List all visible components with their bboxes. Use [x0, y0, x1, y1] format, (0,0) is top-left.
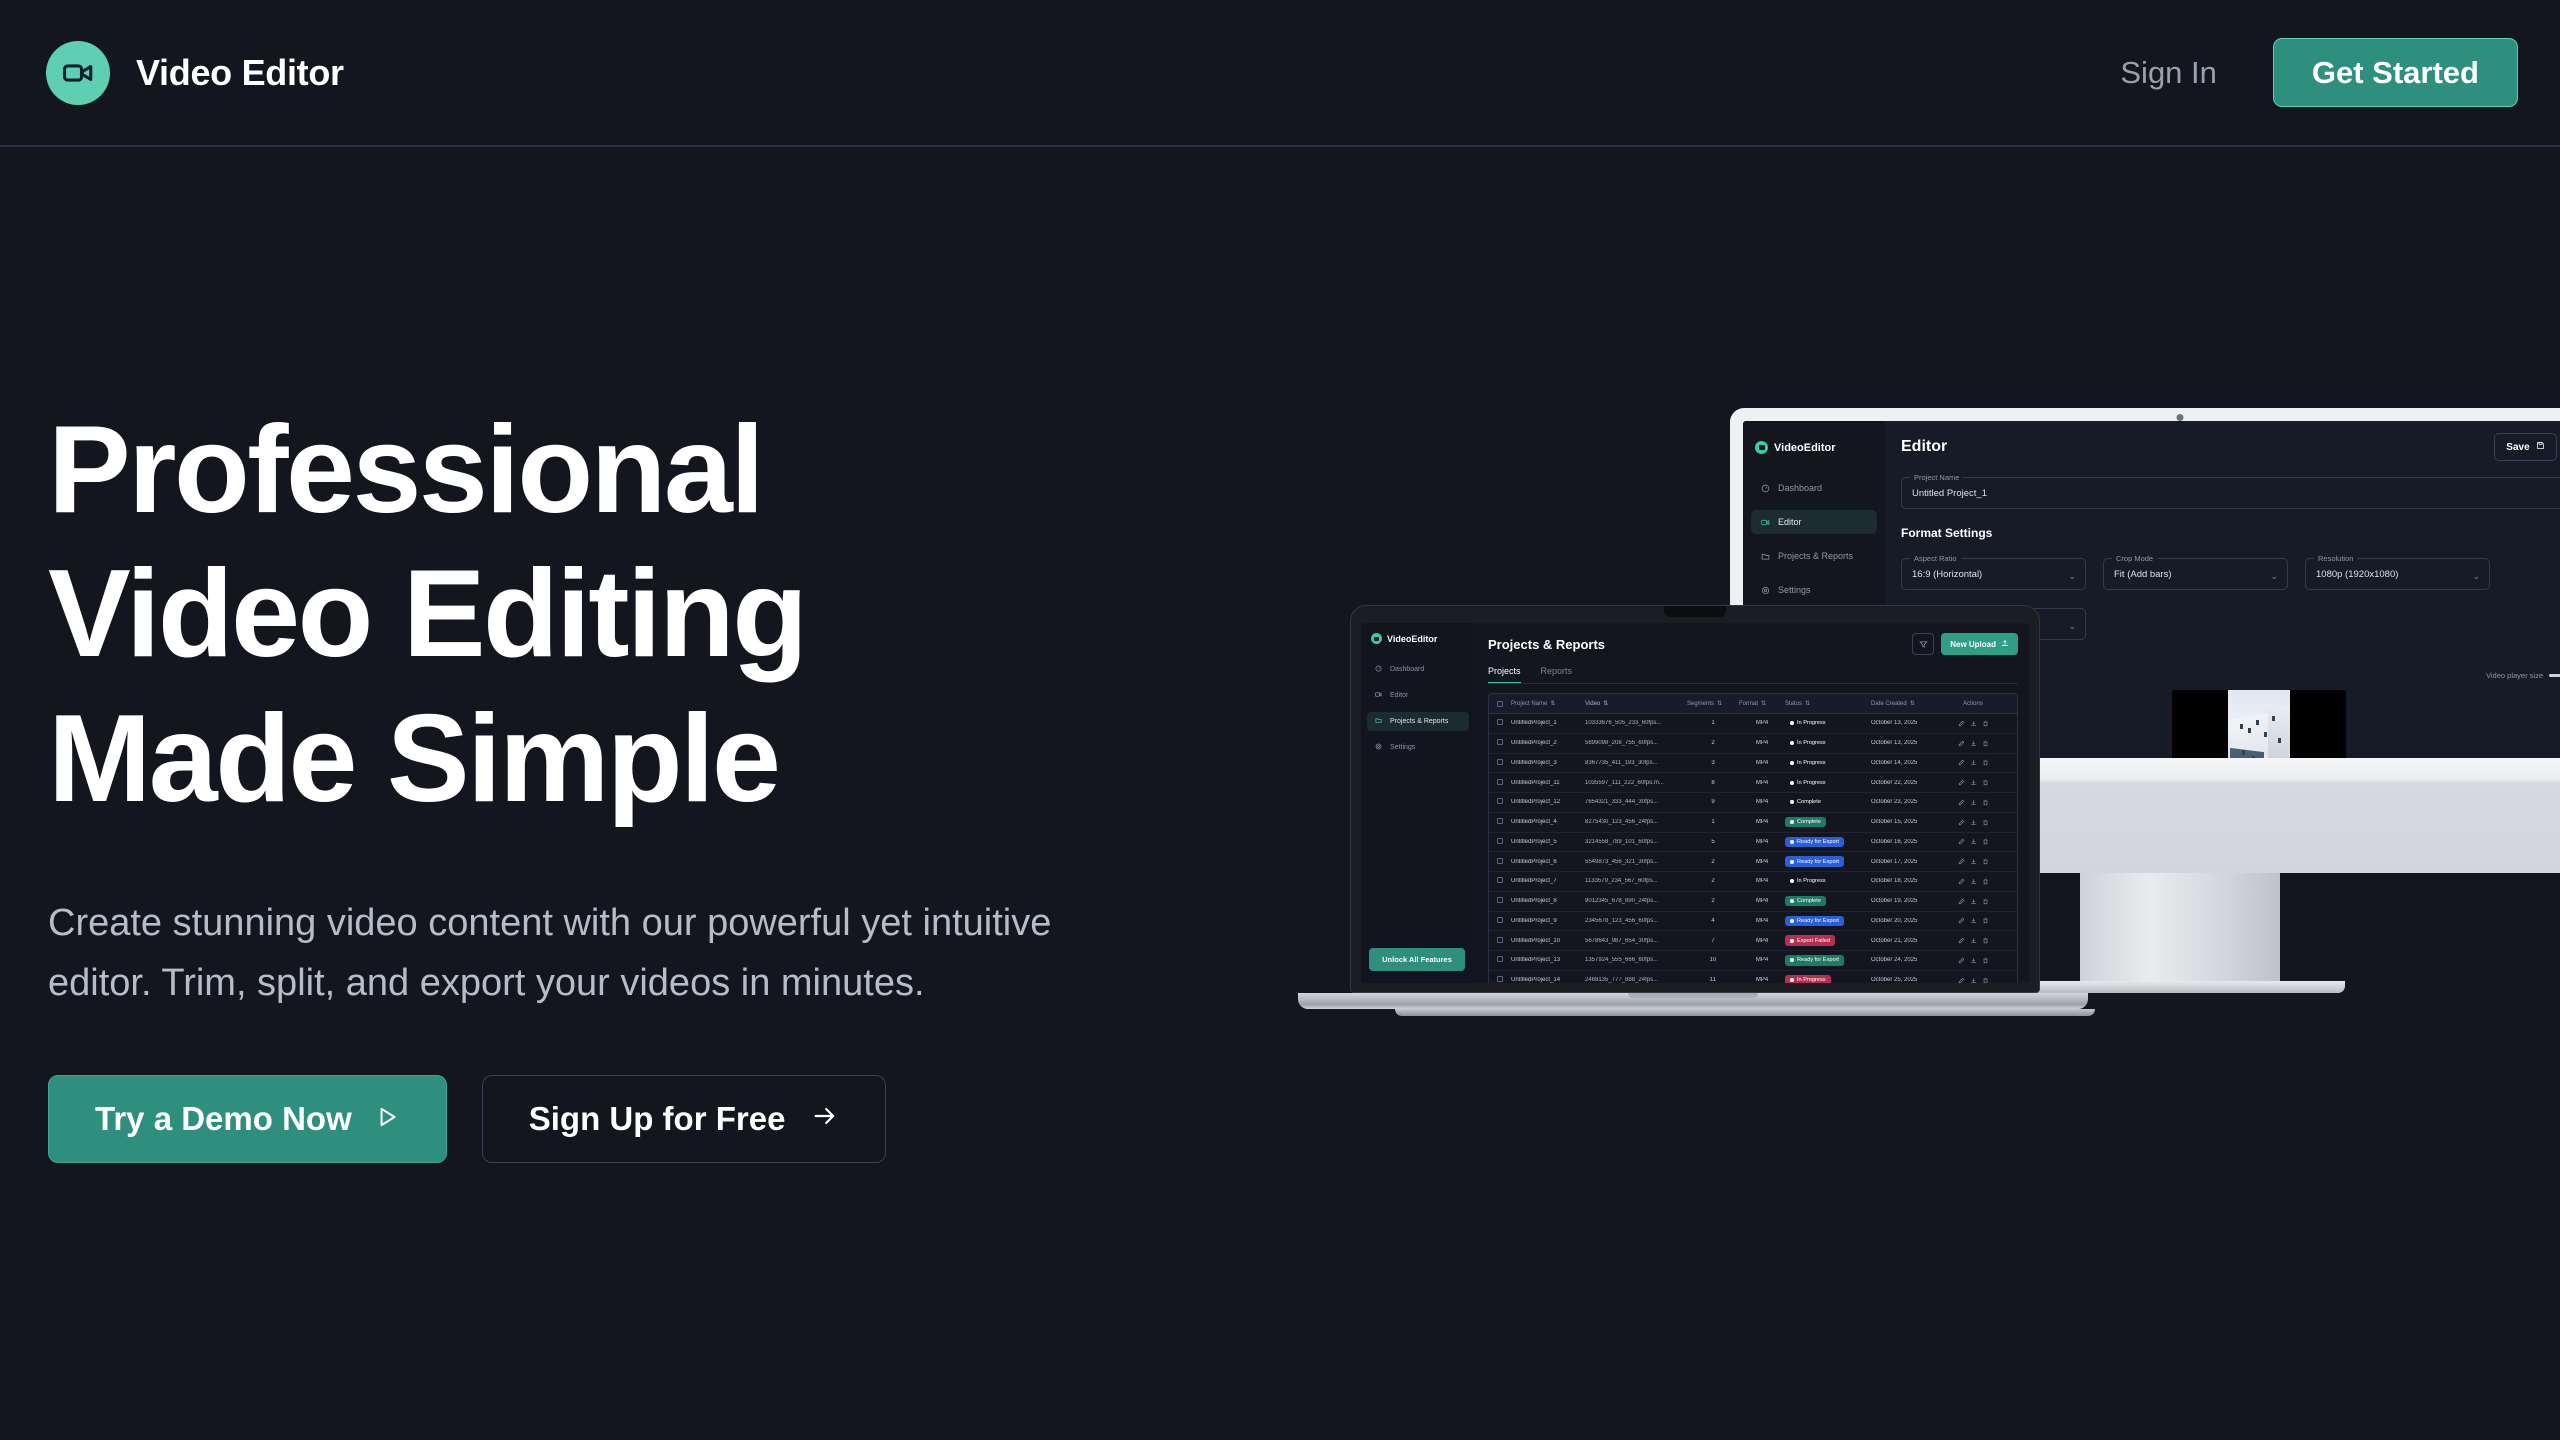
cell-project-name: UntitledProject_6 — [1511, 859, 1585, 865]
video-camera-icon — [46, 41, 110, 105]
table-row[interactable]: UntitledProject_111035597_111_222_60fps.… — [1489, 773, 2017, 793]
status-badge: In Progress — [1785, 876, 1871, 886]
cell-video: 10333676_505_233_60fps... — [1585, 720, 1687, 726]
hero-title-line-2: Video Editing — [48, 542, 1198, 686]
sidebar-item-dashboard[interactable]: Dashboard — [1751, 476, 1877, 500]
cell-project-name: UntitledProject_7 — [1511, 878, 1585, 884]
projects-app-screen: VideoEditor Dashboard Editor — [1361, 623, 2029, 983]
cell-project-name: UntitledProject_12 — [1511, 799, 1585, 805]
cell-format: MP4 — [1739, 898, 1785, 904]
cell-segments: 4 — [1687, 918, 1739, 924]
editor-header: Editor Save Exp — [1901, 433, 2560, 461]
hero-subtitle: Create stunning video content with our p… — [48, 894, 1143, 1013]
status-badge: Ready for Export — [1785, 916, 1871, 926]
chevron-down-icon: ⌄ — [2270, 571, 2278, 582]
column-project-name[interactable]: Project Name⇅ — [1511, 700, 1585, 707]
cell-segments: 5 — [1687, 839, 1739, 845]
trash-icon[interactable] — [1982, 740, 1989, 747]
projects-page-title: Projects & Reports — [1488, 637, 1605, 652]
status-badge: In Progress — [1785, 777, 1871, 787]
row-checkbox[interactable] — [1489, 798, 1511, 806]
player-size-control[interactable]: Video player size — [2486, 671, 2560, 680]
status-badge: In Progress — [1785, 758, 1871, 768]
cell-segments: 7 — [1687, 938, 1739, 944]
cell-date-created: October 25, 2025 — [1871, 977, 1945, 983]
sidebar-label: Projects & Reports — [1390, 718, 1448, 725]
project-name-field[interactable]: Project Name Untitled Project_1 — [1901, 477, 2560, 509]
sidebar-label: Settings — [1778, 585, 1811, 595]
cell-format: MP4 — [1739, 839, 1785, 845]
page-title: Professional Video Editing Made Simple — [48, 398, 1198, 831]
download-icon[interactable] — [1970, 917, 1977, 924]
edit-icon[interactable] — [1958, 720, 1965, 727]
status-badge: Ready for Export — [1785, 955, 1871, 965]
player-size-label: Video player size — [2486, 671, 2543, 680]
cell-project-name: UntitledProject_2 — [1511, 740, 1585, 746]
edit-icon[interactable] — [1958, 898, 1965, 905]
projects-header: Projects & Reports New Upload — [1488, 633, 2018, 655]
new-upload-label: New Upload — [1950, 640, 1996, 649]
cell-segments: 3 — [1687, 760, 1739, 766]
gauge-icon — [1761, 484, 1770, 493]
cell-date-created: October 15, 2025 — [1871, 819, 1945, 825]
table-row[interactable]: UntitledProject_127654321_333_444_30fps.… — [1489, 793, 2017, 813]
sort-icon: ⇅ — [1910, 700, 1915, 707]
save-button[interactable]: Save — [2494, 433, 2556, 461]
sidebar-item-projects-reports[interactable]: Projects & Reports — [1367, 712, 1469, 731]
laptop-base — [1298, 993, 2088, 1009]
table-row[interactable]: UntitledProject_48275430_123_456_24fps..… — [1489, 813, 2017, 833]
table-row[interactable]: UntitledProject_25899098_208_755_60fps..… — [1489, 734, 2017, 754]
cell-video: 7654321_333_444_30fps... — [1585, 799, 1687, 805]
cell-video: 5678643_987_654_30fps... — [1585, 938, 1687, 944]
video-icon — [1375, 691, 1384, 700]
projects-tabs: Projects Reports — [1488, 666, 2018, 684]
cell-video: 1133579_234_567_60fps... — [1585, 878, 1687, 884]
sign-up-button[interactable]: Sign Up for Free — [482, 1075, 887, 1163]
table-row[interactable]: UntitledProject_89012345_678_890_24fps..… — [1489, 892, 2017, 912]
cell-segments: 10 — [1687, 957, 1739, 963]
cell-project-name: UntitledProject_9 — [1511, 918, 1585, 924]
cell-date-created: October 14, 2025 — [1871, 760, 1945, 766]
editor-nav: Dashboard Editor Projects & Reports — [1743, 476, 1885, 602]
trash-icon[interactable] — [1982, 898, 1989, 905]
resolution-label: Resolution — [2314, 554, 2357, 563]
row-checkbox[interactable] — [1489, 976, 1511, 983]
row-checkbox[interactable] — [1489, 937, 1511, 945]
trash-icon[interactable] — [1982, 957, 1989, 964]
cell-segments: 2 — [1687, 859, 1739, 865]
cell-video: 5899098_208_755_60fps... — [1585, 740, 1687, 746]
video-camera-icon — [1371, 633, 1382, 644]
cell-actions — [1945, 917, 2001, 924]
trash-icon[interactable] — [1982, 779, 1989, 786]
cell-format: MP4 — [1739, 740, 1785, 746]
cell-actions — [1945, 878, 2001, 885]
folder-icon — [1761, 552, 1770, 561]
download-icon[interactable] — [1970, 937, 1977, 944]
get-started-button[interactable]: Get Started — [2273, 38, 2518, 107]
brand[interactable]: Video Editor — [46, 41, 344, 105]
row-checkbox[interactable] — [1489, 858, 1511, 866]
cell-actions — [1945, 779, 2001, 786]
cell-format: MP4 — [1739, 878, 1785, 884]
trash-icon[interactable] — [1982, 858, 1989, 865]
sort-icon: ⇅ — [1550, 700, 1555, 707]
crop-mode-value: Fit (Add bars) — [2114, 569, 2277, 580]
table-body: UntitledProject_110333676_505_233_60fps.… — [1489, 714, 2017, 983]
cell-project-name: UntitledProject_10 — [1511, 938, 1585, 944]
cell-segments: 2 — [1687, 740, 1739, 746]
format-settings-row-1: Aspect Ratio 16:9 (Horizontal) ⌄ Crop Mo… — [1901, 542, 2560, 590]
table-row[interactable]: UntitledProject_92345678_123_456_60fps..… — [1489, 912, 2017, 932]
row-checkbox[interactable] — [1489, 779, 1511, 787]
row-checkbox[interactable] — [1489, 956, 1511, 964]
sign-up-label: Sign Up for Free — [529, 1100, 786, 1138]
cell-video: 8367735_411_193_30fps... — [1585, 760, 1687, 766]
column-date-created[interactable]: Date Created⇅ — [1871, 700, 1945, 707]
cell-date-created: October 21, 2025 — [1871, 938, 1945, 944]
edit-icon[interactable] — [1958, 838, 1965, 845]
editor-brand: VideoEditor — [1743, 435, 1885, 454]
cell-segments: 2 — [1687, 898, 1739, 904]
table-row[interactable]: UntitledProject_105678643_987_654_30fps.… — [1489, 931, 2017, 951]
floppy-disk-icon — [2536, 441, 2545, 453]
crop-mode-select[interactable]: Crop Mode Fit (Add bars) ⌄ — [2103, 558, 2288, 590]
upload-icon — [2001, 639, 2009, 649]
laptop-foot — [1395, 1009, 2095, 1016]
row-checkbox[interactable] — [1489, 917, 1511, 925]
cell-format: MP4 — [1739, 938, 1785, 944]
sidebar-item-editor[interactable]: Editor — [1367, 686, 1469, 705]
select-all-checkbox[interactable] — [1489, 700, 1511, 707]
cell-actions — [1945, 720, 2001, 727]
table-row[interactable]: UntitledProject_53214558_789_101_60fps..… — [1489, 833, 2017, 853]
download-icon[interactable] — [1970, 759, 1977, 766]
gear-icon — [1761, 586, 1770, 595]
edit-icon[interactable] — [1958, 740, 1965, 747]
video-preview-player[interactable] — [2172, 690, 2346, 758]
status-badge: Ready for Export — [1785, 856, 1871, 866]
cell-format: MP4 — [1739, 720, 1785, 726]
download-icon[interactable] — [1970, 858, 1977, 865]
edit-icon[interactable] — [1958, 977, 1965, 983]
cell-format: MP4 — [1739, 918, 1785, 924]
cell-project-name: UntitledProject_1 — [1511, 720, 1585, 726]
tab-reports[interactable]: Reports — [1541, 666, 1573, 683]
sidebar-item-projects-reports[interactable]: Projects & Reports — [1751, 544, 1877, 568]
sidebar-label: Dashboard — [1778, 483, 1822, 493]
download-icon[interactable] — [1970, 878, 1977, 885]
cell-segments: 8 — [1687, 780, 1739, 786]
cell-actions — [1945, 858, 2001, 865]
player-size-slider[interactable] — [2549, 674, 2560, 677]
sidebar-label: Settings — [1390, 744, 1415, 751]
arrow-right-icon — [811, 1100, 839, 1138]
gear-icon — [1375, 743, 1384, 752]
cell-segments: 1 — [1687, 819, 1739, 825]
sidebar-item-editor[interactable]: Editor — [1751, 510, 1877, 534]
trash-icon[interactable] — [1982, 819, 1989, 826]
try-demo-label: Try a Demo Now — [95, 1100, 352, 1138]
row-checkbox[interactable] — [1489, 877, 1511, 885]
new-upload-button[interactable]: New Upload — [1941, 633, 2018, 655]
projects-main: Projects & Reports New Upload — [1475, 623, 2029, 983]
cell-video: 3214558_789_101_60fps... — [1585, 839, 1687, 845]
sort-icon: ⇅ — [1805, 700, 1810, 707]
cell-date-created: October 24, 2025 — [1871, 957, 1945, 963]
cell-actions — [1945, 898, 2001, 905]
cell-video: 5549873_456_321_30fps... — [1585, 859, 1687, 865]
edit-icon[interactable] — [1958, 779, 1965, 786]
sidebar-label: Projects & Reports — [1778, 551, 1853, 561]
download-icon[interactable] — [1970, 819, 1977, 826]
projects-table: Project Name⇅ Video⇅ Segments⇅ Format⇅ S… — [1488, 693, 2018, 983]
cell-date-created: October 22, 2025 — [1871, 780, 1945, 786]
cell-segments: 11 — [1687, 977, 1739, 983]
status-badge: Complete — [1785, 817, 1871, 827]
project-name-label: Project Name — [1910, 473, 1963, 482]
projects-sidebar: VideoEditor Dashboard Editor — [1361, 623, 1475, 983]
cell-segments: 9 — [1687, 799, 1739, 805]
cell-format: MP4 — [1739, 760, 1785, 766]
sort-icon: ⇅ — [1761, 700, 1766, 707]
cell-actions — [1945, 957, 2001, 964]
hero-cta-group: Try a Demo Now Sign Up for Free — [48, 1075, 1198, 1163]
cell-video: 2345678_123_456_60fps... — [1585, 918, 1687, 924]
sidebar-label: Dashboard — [1390, 666, 1424, 673]
download-icon[interactable] — [1970, 799, 1977, 806]
table-row[interactable]: UntitledProject_142468135_777_888_24fps.… — [1489, 971, 2017, 983]
status-badge: Export Failed — [1785, 935, 1871, 945]
editor-header-actions: Save Exp — [2494, 433, 2560, 461]
filter-icon[interactable] — [1912, 633, 1934, 655]
status-badge: Ready for Export — [1785, 837, 1871, 847]
row-checkbox[interactable] — [1489, 759, 1511, 767]
cell-video: 1357924_555_666_60fps... — [1585, 957, 1687, 963]
unlock-all-features-button[interactable]: Unlock All Features — [1369, 948, 1465, 971]
hero-title-line-1: Professional — [48, 398, 1198, 542]
projects-nav: Dashboard Editor Projects & Reports — [1361, 660, 1475, 757]
cell-video: 2468135_777_888_24fps... — [1585, 977, 1687, 983]
cell-project-name: UntitledProject_11 — [1511, 780, 1585, 786]
edit-icon[interactable] — [1958, 937, 1965, 944]
cell-video: 9012345_678_890_24fps... — [1585, 898, 1687, 904]
cell-format: MP4 — [1739, 819, 1785, 825]
table-row[interactable]: UntitledProject_131357924_555_666_60fps.… — [1489, 951, 2017, 971]
hero-section: Professional Video Editing Made Simple C… — [48, 398, 1198, 1163]
download-icon[interactable] — [1970, 720, 1977, 727]
download-icon[interactable] — [1970, 977, 1977, 983]
table-row[interactable]: UntitledProject_38367735_411_193_30fps..… — [1489, 754, 2017, 774]
cell-project-name: UntitledProject_3 — [1511, 760, 1585, 766]
table-row[interactable]: UntitledProject_65549873_456_321_30fps..… — [1489, 852, 2017, 872]
trash-icon[interactable] — [1982, 799, 1989, 806]
crop-mode-label: Crop Mode — [2112, 554, 2157, 563]
resolution-value: 1080p (1920x1080) — [2316, 569, 2479, 580]
download-icon[interactable] — [1970, 957, 1977, 964]
cell-format: MP4 — [1739, 977, 1785, 983]
cell-actions — [1945, 819, 2001, 826]
video-icon — [1761, 518, 1770, 527]
trash-icon[interactable] — [1982, 759, 1989, 766]
video-camera-icon — [1755, 441, 1768, 454]
cell-format: MP4 — [1739, 859, 1785, 865]
status-badge: Complete — [1785, 797, 1871, 807]
resolution-select[interactable]: Resolution 1080p (1920x1080) ⌄ — [2305, 558, 2490, 590]
status-badge: In Progress — [1785, 975, 1871, 983]
table-row[interactable]: UntitledProject_71133579_234_567_60fps..… — [1489, 872, 2017, 892]
cell-actions — [1945, 838, 2001, 845]
format-settings-title: Format Settings — [1901, 526, 2560, 540]
sort-icon: ⇅ — [1603, 700, 1608, 707]
site-header: Video Editor Sign In Get Started — [0, 0, 2560, 147]
column-video[interactable]: Video⇅ — [1585, 700, 1687, 707]
chevron-down-icon: ⌄ — [2472, 571, 2480, 582]
cell-project-name: UntitledProject_13 — [1511, 957, 1585, 963]
trash-icon[interactable] — [1982, 977, 1989, 983]
preview-thumbnail — [2228, 690, 2290, 758]
cell-project-name: UntitledProject_8 — [1511, 898, 1585, 904]
sign-in-link[interactable]: Sign In — [2120, 55, 2217, 91]
try-demo-button[interactable]: Try a Demo Now — [48, 1075, 447, 1163]
sidebar-label: Editor — [1778, 517, 1802, 527]
trash-icon[interactable] — [1982, 937, 1989, 944]
aspect-ratio-value: 16:9 (Horizontal) — [1912, 569, 2075, 580]
cell-actions — [1945, 937, 2001, 944]
sidebar-item-dashboard[interactable]: Dashboard — [1367, 660, 1469, 679]
edit-icon[interactable] — [1958, 957, 1965, 964]
camera-icon — [2177, 414, 2184, 421]
tab-projects[interactable]: Projects — [1488, 666, 1521, 683]
cell-date-created: October 13, 2025 — [1871, 720, 1945, 726]
cell-format: MP4 — [1739, 799, 1785, 805]
editor-page-title: Editor — [1901, 438, 1947, 456]
cell-video: 8275430_123_456_24fps... — [1585, 819, 1687, 825]
sidebar-label: Editor — [1390, 692, 1408, 699]
download-icon[interactable] — [1970, 779, 1977, 786]
edit-icon[interactable] — [1958, 799, 1965, 806]
cell-video: 1035597_111_222_60fps.m... — [1585, 780, 1687, 786]
cell-segments: 1 — [1687, 720, 1739, 726]
download-icon[interactable] — [1970, 740, 1977, 747]
status-badge: In Progress — [1785, 718, 1871, 728]
download-icon[interactable] — [1970, 898, 1977, 905]
column-status[interactable]: Status⇅ — [1785, 700, 1871, 707]
row-checkbox[interactable] — [1489, 719, 1511, 727]
row-checkbox[interactable] — [1489, 739, 1511, 747]
product-mockups: VideoEditor Dashboard Editor — [1350, 390, 2560, 1190]
projects-brand-label: VideoEditor — [1387, 634, 1437, 644]
chevron-down-icon: ⌄ — [2068, 571, 2076, 582]
cell-format: MP4 — [1739, 780, 1785, 786]
brand-name: Video Editor — [136, 52, 344, 94]
cell-date-created: October 13, 2025 — [1871, 740, 1945, 746]
camera-icon — [1664, 606, 1726, 617]
edit-icon[interactable] — [1958, 878, 1965, 885]
folder-icon — [1375, 717, 1384, 726]
hero-title-line-3: Made Simple — [48, 687, 1198, 831]
cell-actions — [1945, 740, 2001, 747]
cell-date-created: October 17, 2025 — [1871, 859, 1945, 865]
laptop-mockup: VideoEditor Dashboard Editor — [1350, 605, 2140, 1016]
trash-icon[interactable] — [1982, 878, 1989, 885]
sidebar-item-settings[interactable]: Settings — [1751, 578, 1877, 602]
trash-icon[interactable] — [1982, 917, 1989, 924]
project-name-value: Untitled Project_1 — [1912, 488, 2560, 499]
trash-icon[interactable] — [1982, 720, 1989, 727]
aspect-ratio-label: Aspect Ratio — [1910, 554, 1961, 563]
cell-date-created: October 18, 2025 — [1871, 878, 1945, 884]
sort-icon: ⇅ — [1717, 700, 1722, 707]
gauge-icon — [1375, 665, 1384, 674]
cell-project-name: UntitledProject_5 — [1511, 839, 1585, 845]
trash-icon[interactable] — [1982, 838, 1989, 845]
cell-date-created: October 23, 2025 — [1871, 799, 1945, 805]
projects-header-actions: New Upload — [1912, 633, 2018, 655]
edit-icon[interactable] — [1958, 759, 1965, 766]
save-label: Save — [2506, 442, 2529, 453]
row-checkbox[interactable] — [1489, 897, 1511, 905]
status-badge: In Progress — [1785, 738, 1871, 748]
aspect-ratio-select[interactable]: Aspect Ratio 16:9 (Horizontal) ⌄ — [1901, 558, 2086, 590]
landing-page: Video Editor Sign In Get Started Profess… — [0, 0, 2560, 1440]
cell-segments: 2 — [1687, 878, 1739, 884]
cell-date-created: October 20, 2025 — [1871, 918, 1945, 924]
table-row[interactable]: UntitledProject_110333676_505_233_60fps.… — [1489, 714, 2017, 734]
cell-format: MP4 — [1739, 957, 1785, 963]
sidebar-item-settings[interactable]: Settings — [1367, 738, 1469, 757]
cell-date-created: October 19, 2025 — [1871, 898, 1945, 904]
editor-brand-label: VideoEditor — [1774, 442, 1836, 454]
edit-icon[interactable] — [1958, 917, 1965, 924]
play-icon — [374, 1100, 400, 1138]
column-format[interactable]: Format⇅ — [1739, 700, 1785, 707]
header-actions: Sign In Get Started — [2120, 38, 2518, 107]
row-checkbox[interactable] — [1489, 818, 1511, 826]
edit-icon[interactable] — [1958, 858, 1965, 865]
edit-icon[interactable] — [1958, 819, 1965, 826]
cell-project-name: UntitledProject_14 — [1511, 977, 1585, 983]
cell-project-name: UntitledProject_4 — [1511, 819, 1585, 825]
row-checkbox[interactable] — [1489, 838, 1511, 846]
status-badge: Complete — [1785, 896, 1871, 906]
table-header-row: Project Name⇅ Video⇅ Segments⇅ Format⇅ S… — [1489, 694, 2017, 714]
cell-actions — [1945, 977, 2001, 983]
cell-actions — [1945, 759, 2001, 766]
column-segments[interactable]: Segments⇅ — [1687, 700, 1739, 707]
cell-date-created: October 16, 2025 — [1871, 839, 1945, 845]
laptop-lid: VideoEditor Dashboard Editor — [1350, 605, 2040, 993]
projects-brand: VideoEditor — [1361, 633, 1475, 644]
cell-actions — [1945, 799, 2001, 806]
download-icon[interactable] — [1970, 838, 1977, 845]
column-actions: Actions — [1945, 700, 2001, 707]
